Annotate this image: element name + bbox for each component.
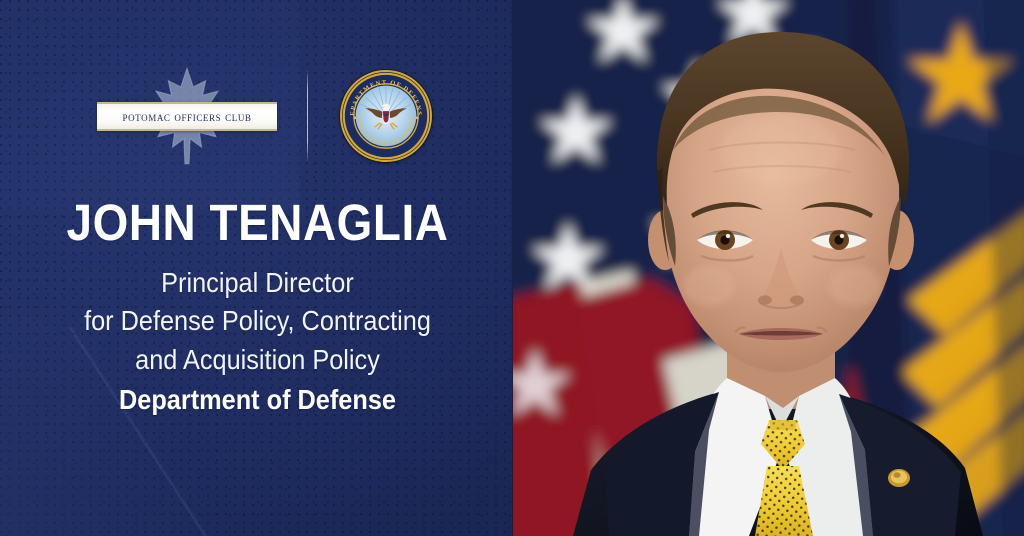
potomac-officers-club-wordmark: Potomac Officers Club: [122, 109, 251, 125]
portrait-canvas: [513, 0, 1024, 536]
speaker-title-line-3: and Acquisition Policy: [37, 341, 478, 380]
department-of-defense-seal[interactable]: DEPARTMENT OF DEFENSE UNITED STATES OF A…: [340, 70, 432, 162]
potomac-officers-club-logo[interactable]: Potomac Officers Club: [97, 62, 277, 170]
speaker-name: JOHN TENAGLIA: [42, 196, 473, 250]
speaker-title-lines: Principal Director for Defense Policy, C…: [18, 264, 497, 380]
speaker-text-block: JOHN TENAGLIA Principal Director for Def…: [0, 196, 515, 420]
logo-row: Potomac Officers Club: [0, 60, 515, 172]
logo-divider: [307, 70, 308, 162]
speaker-portrait-photo: [513, 0, 1024, 536]
potomac-officers-club-wordmark-band: Potomac Officers Club: [97, 102, 277, 131]
left-info-panel: Potomac Officers Club: [0, 0, 515, 536]
speaker-organization: Department of Defense: [37, 381, 478, 420]
speaker-title-line-2: for Defense Policy, Contracting: [37, 302, 478, 341]
speaker-title-line-1: Principal Director: [37, 264, 478, 303]
speaker-announcement-banner: Potomac Officers Club: [0, 0, 1024, 536]
